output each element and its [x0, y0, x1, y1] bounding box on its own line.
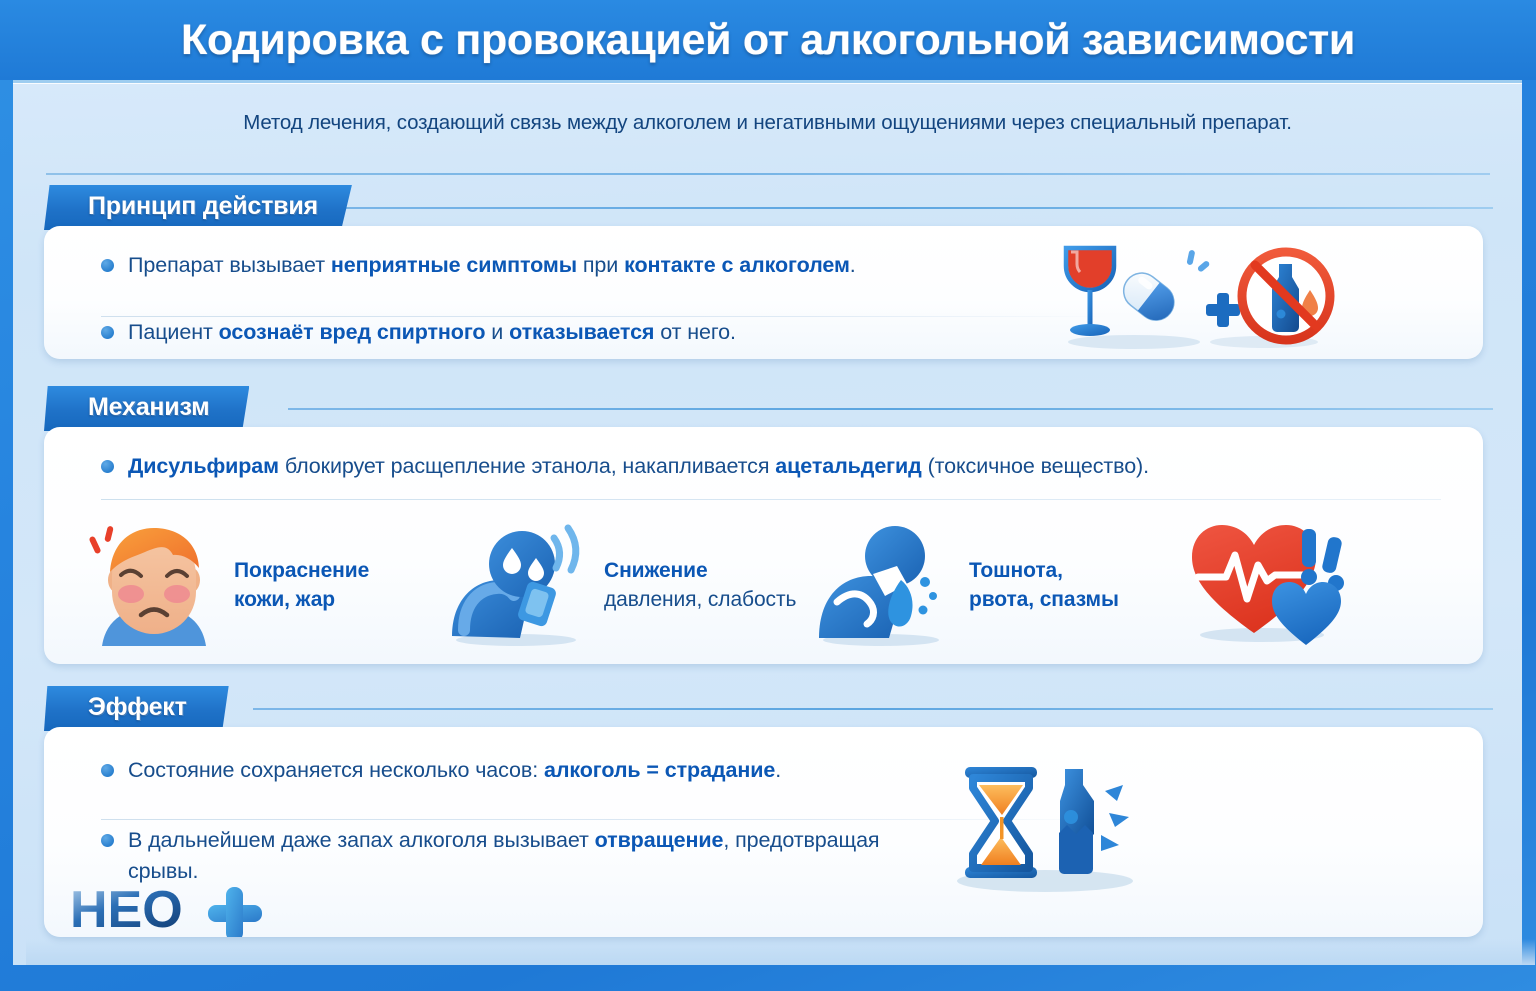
sparkle-icon [1186, 250, 1210, 273]
symptom-item [1184, 515, 1384, 655]
plus-icon [1206, 293, 1240, 327]
symptom-label: Покраснение кожи, жар [234, 556, 369, 614]
broken-bottle-icon [1059, 769, 1129, 874]
exclamation-icon [1301, 529, 1344, 591]
section-tab-effect[interactable]: Эффект [44, 686, 229, 731]
symptom-item: Снижение давления, слабость [444, 515, 809, 655]
logo-text: НЕО [70, 883, 183, 937]
brand-logo: НЕО [70, 883, 285, 937]
section-tab-mechanism[interactable]: Механизм [44, 386, 249, 431]
intro-text: Метод лечения, создающий связь между алк… [103, 111, 1432, 135]
bullet-list-mechanism: Дисульфирам блокирует расщепление этанол… [101, 451, 1483, 491]
bullet-dot-icon [101, 834, 114, 847]
row-divider [101, 499, 1441, 500]
bullet-list-effect: Состояние сохраняется несколько часов: а… [101, 755, 1483, 895]
intro-block: Метод лечения, создающий связь между алк… [13, 111, 1522, 135]
bullet-dot-icon [101, 259, 114, 272]
section-mechanism: Механизм Дисульфирам блокирует расщеплен… [13, 386, 1522, 664]
bullet-text: Состояние сохраняется несколько часов: а… [128, 755, 781, 786]
pill-capsule-icon [1116, 266, 1181, 328]
bullet-dot-icon [101, 764, 114, 777]
bottom-fade [26, 939, 1535, 965]
section-card-principle: Препарат вызывает неприятные симптомы пр… [44, 226, 1483, 359]
icon-cluster-principle [1038, 238, 1338, 355]
bullet-dot-icon [101, 460, 114, 473]
section-rule [288, 408, 1493, 410]
list-item: Дисульфирам блокирует расщепление этанол… [101, 451, 1483, 491]
principle-icons-svg [1038, 238, 1338, 350]
red-face-icon [84, 518, 224, 653]
section-tab-principle[interactable]: Принцип действия [44, 185, 352, 230]
bullet-text: Дисульфирам блокирует расщепление этанол… [128, 451, 1149, 482]
infographic-poster: Кодировка с провокацией от алкогольной з… [0, 0, 1536, 991]
heat-lines-icon [88, 525, 113, 554]
section-rule [273, 207, 1493, 209]
icon-cluster-effect [949, 755, 1169, 900]
bullet-text: Препарат вызывает неприятные симптомы пр… [128, 250, 856, 281]
symptom-strip: Покраснение кожи, жар [84, 515, 1454, 655]
vomiting-person-icon [809, 518, 959, 653]
title-band: Кодировка с провокацией от алкогольной з… [0, 0, 1536, 80]
no-alcohol-icon [1242, 252, 1330, 340]
neo-plus-logo-svg: НЕО [70, 883, 285, 937]
section-card-mechanism: Дисульфирам блокирует расщепление этанол… [44, 427, 1483, 664]
section-rule [253, 708, 1493, 710]
plus-icon [208, 887, 262, 937]
content-panel: Метод лечения, создающий связь между алк… [13, 80, 1522, 965]
effect-icons-svg [949, 755, 1169, 895]
symptom-label: Тошнота, рвота, спазмы [969, 556, 1119, 614]
wine-glass-icon [1066, 248, 1114, 336]
section-principle: Принцип действия Препарат вызывает непри… [13, 185, 1522, 359]
symptom-item: Покраснение кожи, жар [84, 515, 444, 655]
hourglass-icon [965, 767, 1037, 878]
impact-lines-icon [1101, 785, 1129, 851]
page-title: Кодировка с провокацией от алкогольной з… [181, 16, 1355, 65]
dizzy-person-icon [444, 518, 594, 653]
bullet-dot-icon [101, 326, 114, 339]
symptom-label: Снижение давления, слабость [604, 556, 796, 614]
list-item: В дальнейшем даже запах алкоголя вызывае… [101, 825, 1483, 895]
symptom-item: Тошнота, рвота, спазмы [809, 515, 1184, 655]
bullet-text: В дальнейшем даже запах алкоголя вызывае… [128, 825, 888, 887]
intro-divider [46, 173, 1490, 175]
list-item: Состояние сохраняется несколько часов: а… [101, 755, 1483, 795]
bullet-text: Пациент осознаёт вред спиртного и отказы… [128, 317, 736, 348]
heart-pulse-icon [1184, 515, 1359, 655]
